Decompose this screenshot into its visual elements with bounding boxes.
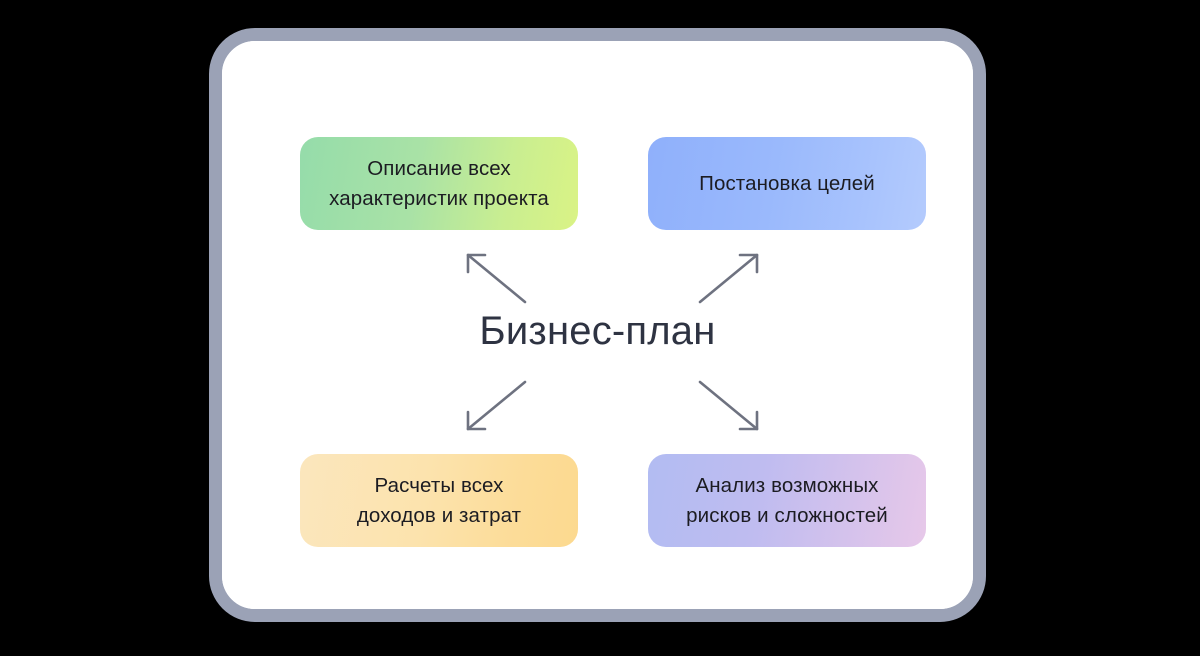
diagram-node-goals-label: Постановка целей — [699, 169, 875, 198]
diagram-node-description[interactable]: Описание всех характеристик проекта — [300, 137, 578, 230]
arrow-down-right-icon — [697, 379, 763, 435]
diagram-node-calculations-label: Расчеты всех доходов и затрат — [357, 471, 521, 529]
diagram-node-description-label: Описание всех характеристик проекта — [329, 154, 549, 212]
arrow-up-right-icon — [697, 249, 763, 305]
diagram-center-title: Бизнес-план — [222, 309, 973, 354]
diagram-node-goals[interactable]: Постановка целей — [648, 137, 926, 230]
diagram-canvas: Описание всех характеристик проекта Пост… — [222, 41, 973, 609]
diagram-node-calculations[interactable]: Расчеты всех доходов и затрат — [300, 454, 578, 547]
screenshot-stage: Описание всех характеристик проекта Пост… — [0, 0, 1200, 656]
diagram-node-risks-label: Анализ возможных рисков и сложностей — [686, 471, 888, 529]
diagram-node-risks[interactable]: Анализ возможных рисков и сложностей — [648, 454, 926, 547]
diagram-frame: Описание всех характеристик проекта Пост… — [209, 28, 986, 622]
arrow-down-left-icon — [462, 379, 528, 435]
arrow-up-left-icon — [462, 249, 528, 305]
